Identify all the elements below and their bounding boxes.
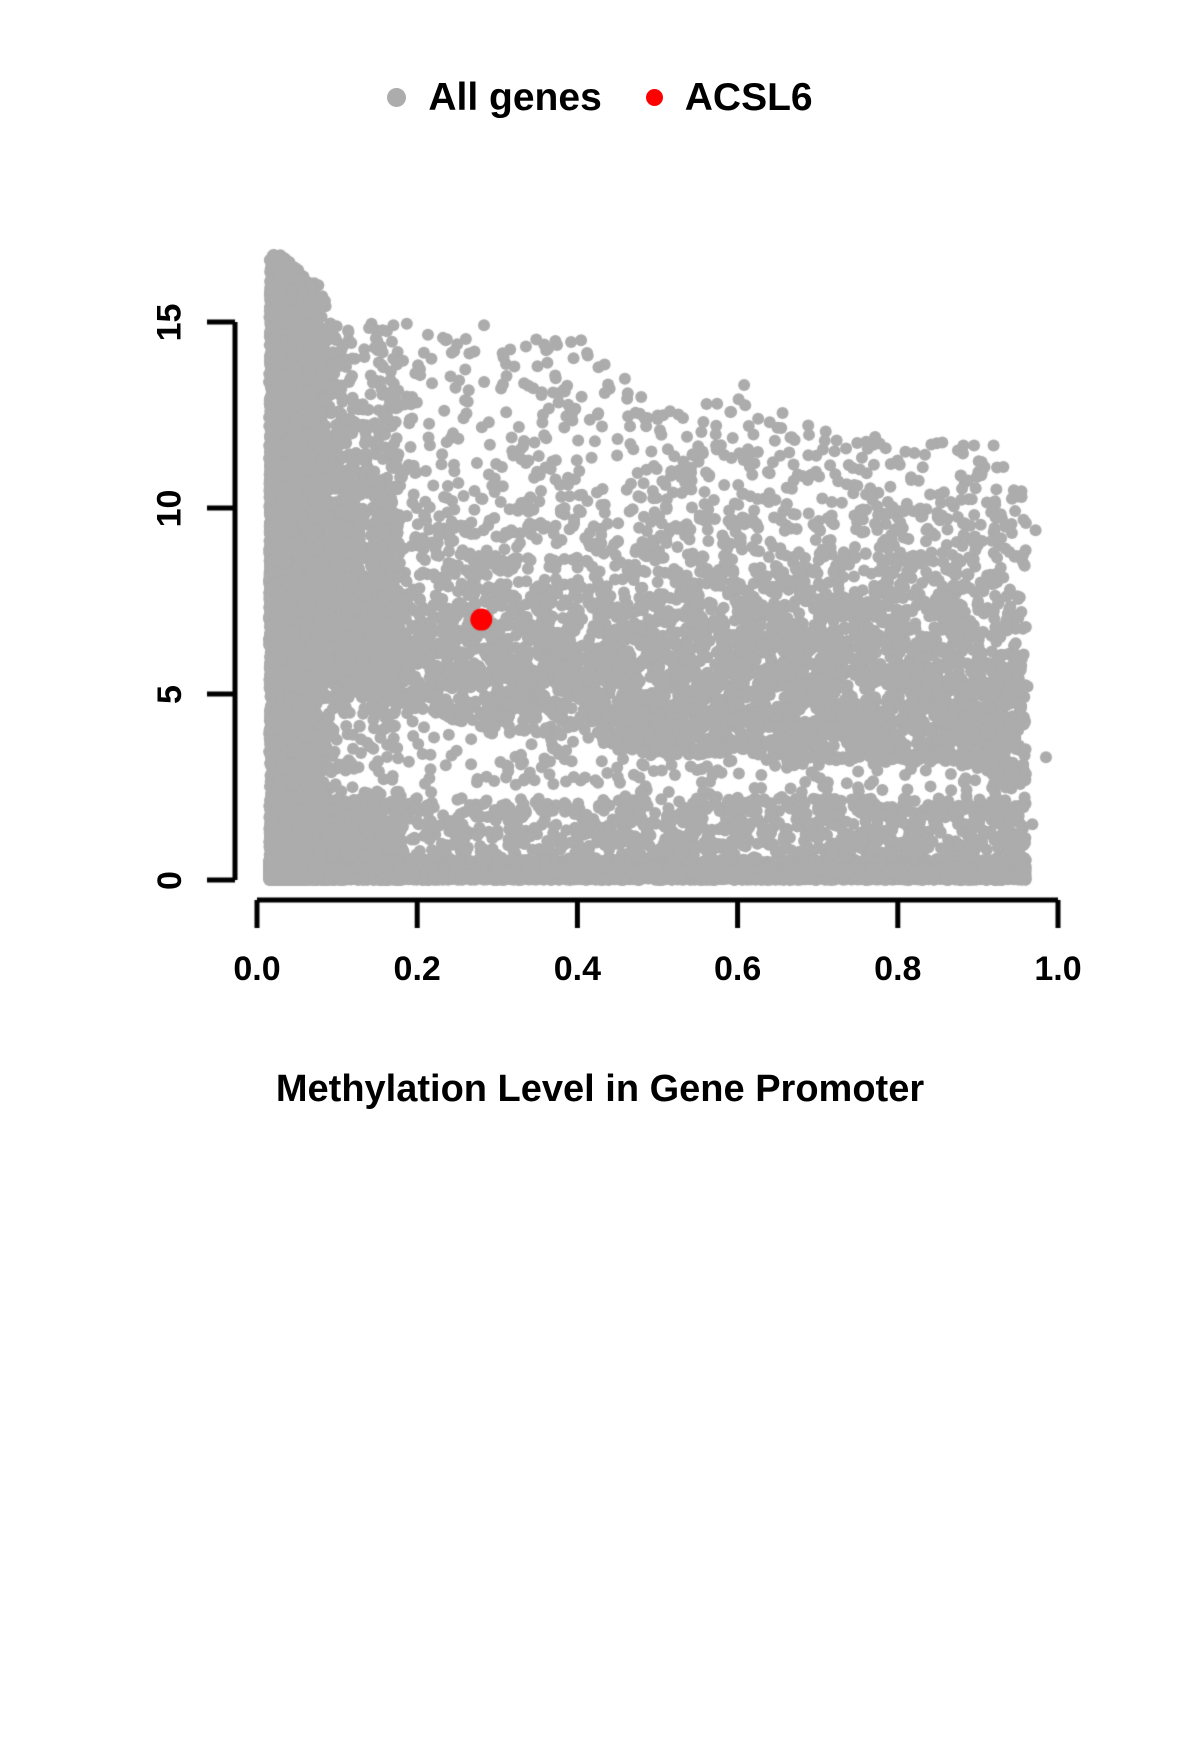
x-tick-label: 0.0 xyxy=(233,950,280,989)
y-tick-label: 15 xyxy=(140,302,200,342)
x-axis-title: Methylation Level in Gene Promoter xyxy=(0,1068,1200,1111)
y-tick-label: 5 xyxy=(140,674,200,714)
scatter-plot-canvas xyxy=(0,0,1200,1200)
x-tick-label: 0.6 xyxy=(714,950,761,989)
x-tick-label: 1.0 xyxy=(1034,950,1081,989)
x-tick-label: 0.8 xyxy=(874,950,921,989)
scatter-plot-figure: All genes ACSL6 Methylation Level in Gen… xyxy=(0,0,1200,1200)
y-tick-label: 10 xyxy=(140,488,200,528)
x-tick-label: 0.2 xyxy=(394,950,441,989)
x-tick-label: 0.4 xyxy=(554,950,601,989)
y-tick-label: 0 xyxy=(140,860,200,900)
